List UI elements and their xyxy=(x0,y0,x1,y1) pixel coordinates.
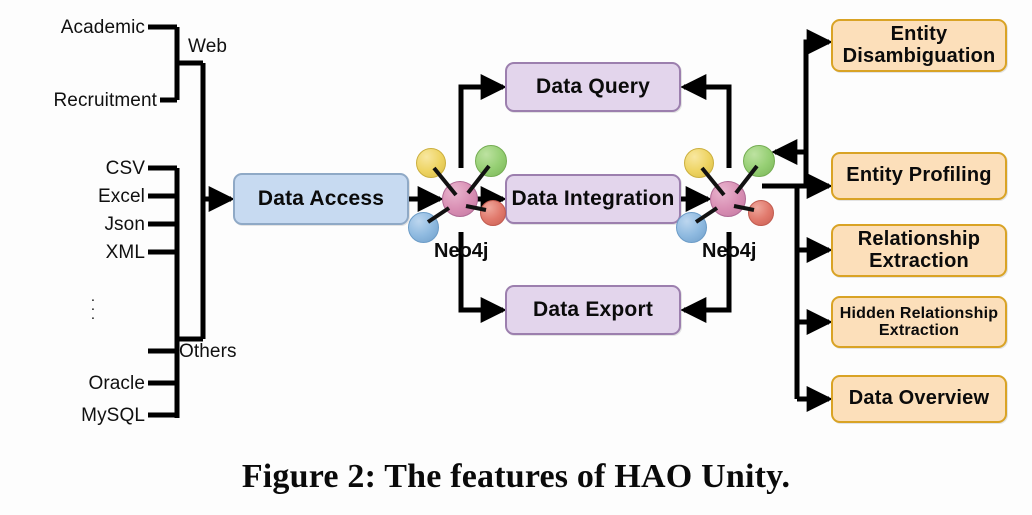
box-data-overview[interactable]: Data Overview xyxy=(831,375,1007,423)
source-ellipsis-icon: . . . xyxy=(86,292,100,319)
box-label-line1: Hidden Relationship xyxy=(840,305,998,322)
figure-hao-unity: Academic Recruitment Web CSV Excel Json … xyxy=(0,0,1032,515)
box-data-access[interactable]: Data Access xyxy=(233,173,409,225)
figure-caption: Figure 2: The features of HAO Unity. xyxy=(0,458,1032,496)
box-label-line2: Extraction xyxy=(869,251,969,273)
source-group-label-others: Others xyxy=(179,341,237,363)
neo4j-label-second: Neo4j xyxy=(702,240,756,263)
source-label-xml: XML xyxy=(106,242,145,264)
source-label-excel: Excel xyxy=(98,186,145,208)
box-hidden-relationship-extraction[interactable]: Hidden Relationship Extraction xyxy=(831,296,1007,348)
box-data-query[interactable]: Data Query xyxy=(505,62,681,112)
box-label-line2: Disambiguation xyxy=(843,46,996,68)
box-relationship-extraction[interactable]: Relationship Extraction xyxy=(831,224,1007,277)
box-label-line1: Entity Profiling xyxy=(846,165,991,187)
source-label-mysql: MySQL xyxy=(81,405,145,427)
box-label-line2: Extraction xyxy=(879,322,959,339)
box-label-line1: Entity xyxy=(891,24,948,46)
source-label-recruitment: Recruitment xyxy=(53,90,157,112)
source-label-oracle: Oracle xyxy=(88,373,145,395)
box-entity-disambiguation[interactable]: Entity Disambiguation xyxy=(831,19,1007,72)
ellipsis-dot: . xyxy=(86,310,100,319)
neo4j-label-first: Neo4j xyxy=(434,240,488,263)
source-label-csv: CSV xyxy=(106,158,145,180)
box-data-export[interactable]: Data Export xyxy=(505,285,681,335)
box-data-integration[interactable]: Data Integration xyxy=(505,174,681,224)
box-entity-profiling[interactable]: Entity Profiling xyxy=(831,152,1007,200)
source-group-label-web: Web xyxy=(188,36,227,58)
source-label-json: Json xyxy=(104,214,145,236)
box-label-line1: Data Overview xyxy=(849,388,989,410)
source-label-academic: Academic xyxy=(61,17,145,39)
box-label-line1: Relationship xyxy=(858,229,980,251)
